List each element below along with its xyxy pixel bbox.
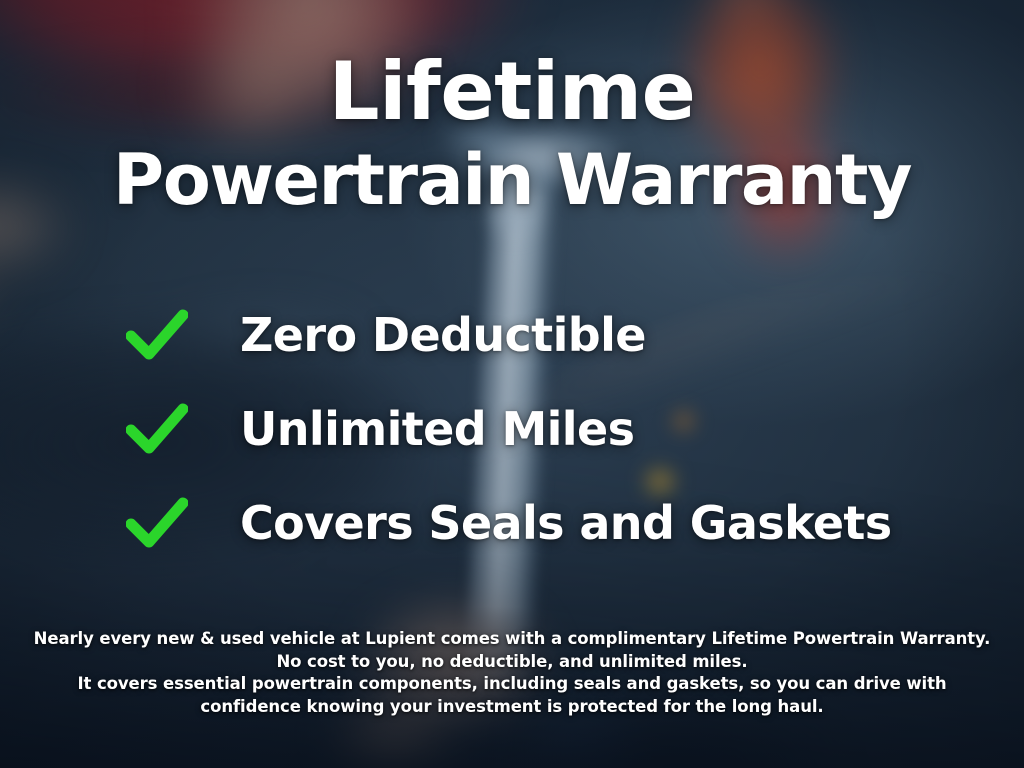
disclaimer-line-2: No cost to you, no deductible, and unlim… [24,651,1000,674]
check-icon [126,403,188,455]
benefit-item-zero-deductible: Zero Deductible [0,288,1024,382]
benefit-list: Zero Deductible Unlimited Miles Covers S… [0,288,1024,570]
benefit-item-seals-and-gaskets: Covers Seals and Gaskets [0,476,1024,570]
check-icon [126,309,188,361]
disclaimer-text: Nearly every new & used vehicle at Lupie… [0,628,1024,718]
benefit-item-unlimited-miles: Unlimited Miles [0,382,1024,476]
headline-primary: Lifetime [0,52,1024,132]
benefit-label: Zero Deductible [240,308,646,362]
benefit-label: Covers Seals and Gaskets [240,496,892,550]
disclaimer-line-4: confidence knowing your investment is pr… [24,696,1000,719]
disclaimer-line-3: It covers essential powertrain component… [24,673,1000,696]
promo-banner: Lifetime Powertrain Warranty Zero Deduct… [0,0,1024,768]
disclaimer-line-1: Nearly every new & used vehicle at Lupie… [24,628,1000,651]
benefit-label: Unlimited Miles [240,402,634,456]
headline-secondary: Powertrain Warranty [0,145,1024,215]
check-icon [126,497,188,549]
